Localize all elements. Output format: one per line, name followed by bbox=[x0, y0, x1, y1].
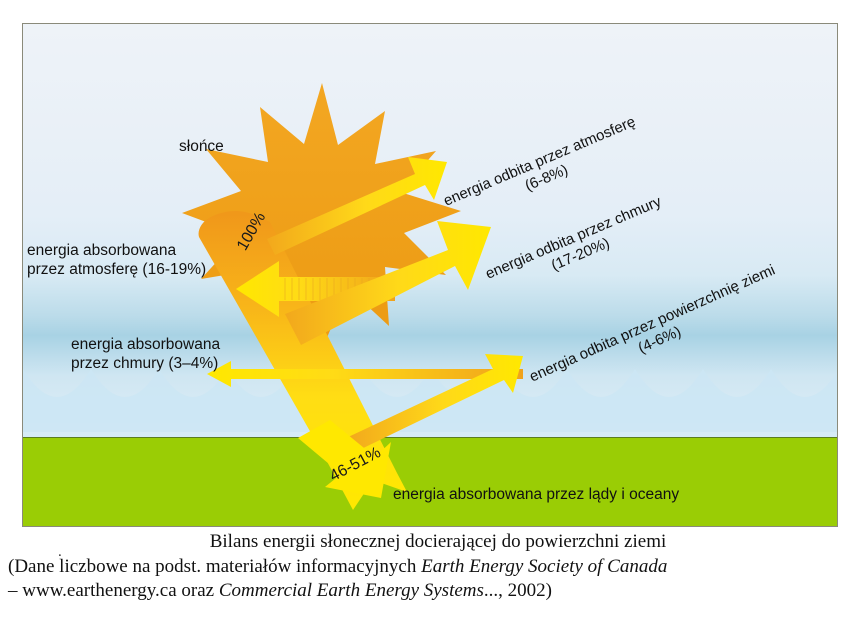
label-absorbed-atmosphere-line2: przez atmosferę (16-19%) bbox=[27, 261, 206, 280]
caption-title: Bilans energii słonecznej docierającej d… bbox=[0, 530, 862, 555]
caption-line-2: (Dane liczbowe na podst. materiałów info… bbox=[0, 555, 862, 580]
caption-line-2-italic: Earth Energy Society of Canada bbox=[421, 556, 667, 577]
caption-line-3: – www.earthenergy.ca oraz Commercial Ear… bbox=[0, 579, 862, 604]
label-absorbed-atmosphere: energia absorbowana przez atmosferę (16-… bbox=[27, 242, 206, 280]
caption-block: . Bilans energii słonecznej docierającej… bbox=[0, 530, 862, 604]
label-absorbed-clouds-line2: przez chmury (3–4%) bbox=[71, 355, 220, 374]
caption-line-2-pre: (Dane liczbowe na podst. materiałów info… bbox=[8, 556, 421, 577]
label-absorbed-clouds: energia absorbowana przez chmury (3–4%) bbox=[71, 336, 220, 374]
page-root: słońce 100% 46-51% energia absorbowana p… bbox=[0, 0, 862, 621]
label-absorbed-land-ocean-text: energia absorbowana przez lądy i oceany bbox=[393, 486, 679, 503]
label-absorbed-atmosphere-line1: energia absorbowana bbox=[27, 242, 206, 261]
caption-line-3-pre: – www.earthenergy.ca oraz bbox=[8, 580, 219, 601]
energy-balance-diagram: słońce 100% 46-51% energia absorbowana p… bbox=[22, 23, 838, 527]
caption-stray-dot: . bbox=[58, 544, 62, 561]
sun-label: słońce bbox=[179, 138, 224, 156]
arrow-reflected-surface bbox=[346, 354, 523, 452]
sun-label-text: słońce bbox=[179, 138, 224, 155]
caption-line-3-post: ..., 2002) bbox=[484, 580, 552, 601]
label-absorbed-land-ocean: energia absorbowana przez lądy i oceany bbox=[393, 486, 679, 505]
caption-line-3-italic: Commercial Earth Energy Systems bbox=[219, 580, 484, 601]
label-absorbed-clouds-line1: energia absorbowana bbox=[71, 336, 220, 355]
